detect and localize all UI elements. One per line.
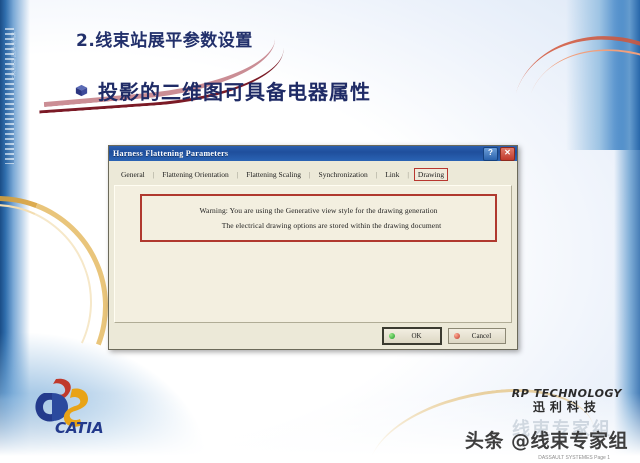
warning-line-1: Warning: You are using the Generative vi… <box>142 206 495 215</box>
dialog-body: General | Flattening Orientation | Flatt… <box>109 161 517 349</box>
side-vertical-text: 线束专家组 线束设计 <box>6 32 16 79</box>
tab-strip[interactable]: General | Flattening Orientation | Flatt… <box>114 166 512 185</box>
bullet-row: 投影的二维图可具备电器属性 <box>74 76 371 105</box>
help-icon[interactable]: ? <box>483 147 498 161</box>
tab-synchronization[interactable]: Synchronization <box>316 169 371 180</box>
close-icon[interactable]: ✕ <box>500 147 515 161</box>
green-dot-icon <box>389 333 395 339</box>
slide-heading: 2.线束站展平参数设置 <box>76 26 253 51</box>
tab-flattening-scaling[interactable]: Flattening Scaling <box>243 169 304 180</box>
cancel-button-label: Cancel <box>463 332 500 340</box>
harness-flattening-parameters-dialog[interactable]: Harness Flattening Parameters ? ✕ Genera… <box>108 145 518 350</box>
tab-separator: | <box>152 170 156 179</box>
tab-general[interactable]: General <box>118 169 148 180</box>
svg-text:CATIA: CATIA <box>55 419 104 435</box>
tab-separator: | <box>406 170 410 179</box>
tab-link[interactable]: Link <box>382 169 402 180</box>
dialog-footer: OK Cancel <box>114 323 512 345</box>
slide-canvas: 线束专家组 线束设计 2.线束站展平参数设置 投影的二维图可具备电器属性 Har… <box>0 0 640 463</box>
dialog-title: Harness Flattening Parameters <box>113 149 481 158</box>
tab-separator: | <box>236 170 240 179</box>
cube-icon <box>74 83 89 98</box>
ok-button-label: OK <box>398 332 435 340</box>
tab-separator: | <box>308 170 312 179</box>
rp-logo-en: RP TECHNOLOGY <box>512 388 622 401</box>
warning-message-box: Warning: You are using the Generative vi… <box>140 194 497 242</box>
dialog-titlebar[interactable]: Harness Flattening Parameters ? ✕ <box>109 146 517 161</box>
warning-line-2: The electrical drawing options are store… <box>142 221 495 230</box>
rp-technology-logo: RP TECHNOLOGY 迅利科技 <box>512 388 622 415</box>
bullet-text: 投影的二维图可具备电器属性 <box>98 76 371 105</box>
tab-flattening-orientation[interactable]: Flattening Orientation <box>159 169 231 180</box>
cancel-button[interactable]: Cancel <box>448 328 506 344</box>
ok-button[interactable]: OK <box>382 327 442 345</box>
page-tag: DASSAULT SYSTEMES Page 1 <box>538 455 610 461</box>
watermark: 头条 @线束专家组 <box>465 426 628 453</box>
rp-logo-cn: 迅利科技 <box>512 401 622 415</box>
tab-drawing[interactable]: Drawing <box>414 168 448 181</box>
ds-catia-logo: CATIA <box>22 373 132 435</box>
drawing-tab-panel: Warning: You are using the Generative vi… <box>114 185 512 323</box>
red-dot-icon <box>454 333 460 339</box>
tab-separator: | <box>375 170 379 179</box>
